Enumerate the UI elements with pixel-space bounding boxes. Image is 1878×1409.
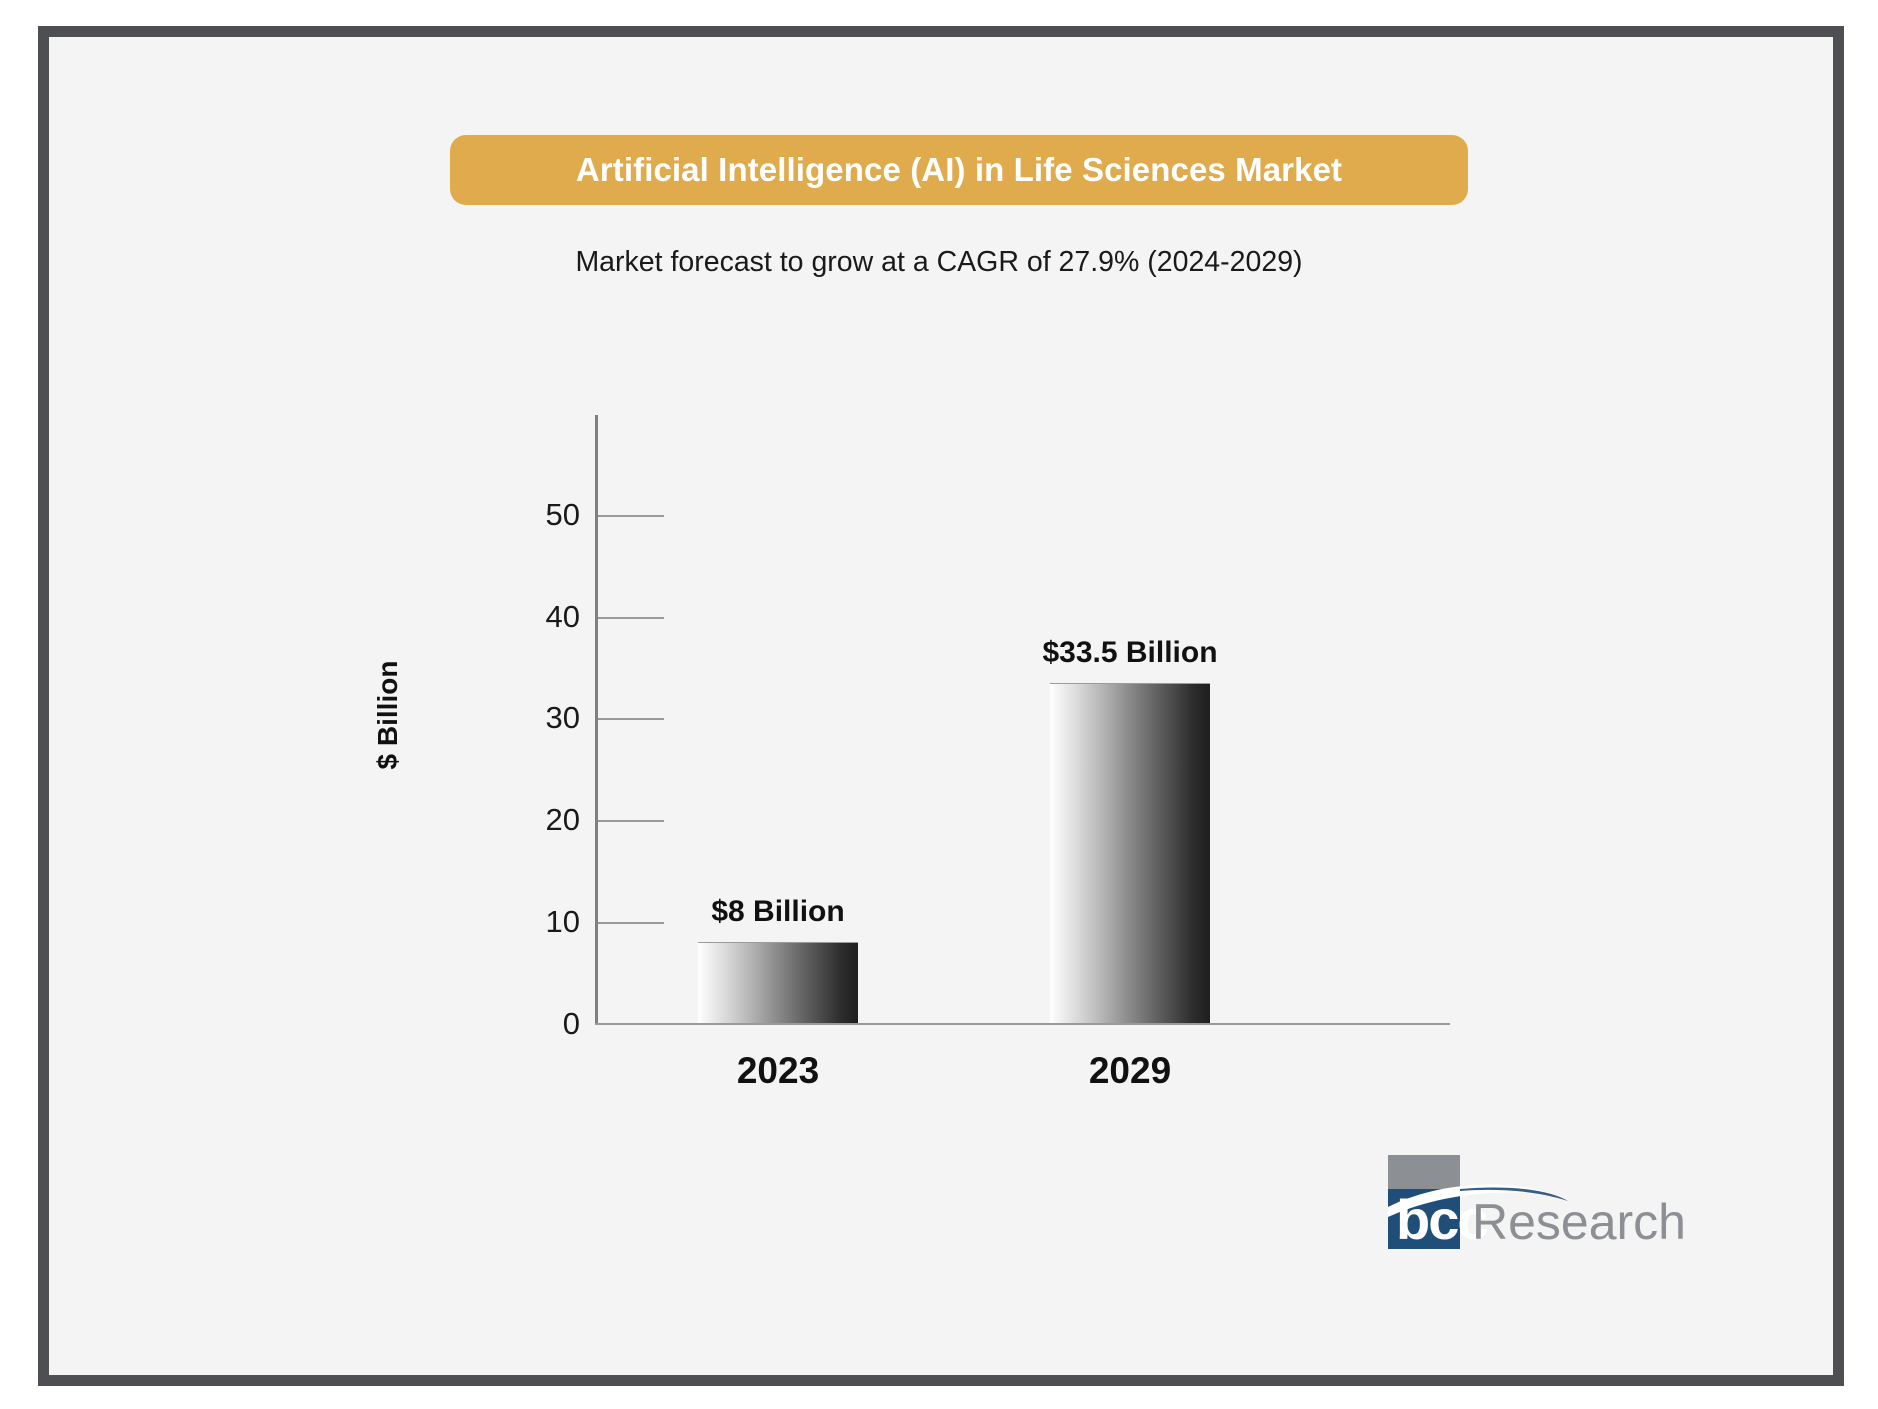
logo-research-text: Research: [1472, 1194, 1684, 1250]
y-tick-label-50: 50: [460, 497, 580, 533]
bar-label-2023: $8 Billion: [711, 895, 844, 929]
slide-root: Artificial Intelligence (AI) in Life Sci…: [0, 0, 1878, 1409]
bcc-research-logo: bcc Research: [1388, 1155, 1684, 1275]
y-tick-label-30: 30: [460, 700, 580, 736]
y-axis-spine: [595, 415, 598, 1025]
category-label-2029: 2029: [1089, 1050, 1171, 1092]
subtitle: Market forecast to grow at a CAGR of 27.…: [0, 246, 1878, 279]
title-banner: Artificial Intelligence (AI) in Life Sci…: [450, 135, 1468, 205]
logo-gray-block: [1388, 1155, 1460, 1189]
y-tick-line-50: [598, 515, 664, 517]
page-title: Artificial Intelligence (AI) in Life Sci…: [576, 151, 1342, 189]
bar-label-2029: $33.5 Billion: [1042, 636, 1217, 670]
chart-plot-area: $ Billion 50 40 30 20 10 0 $8 Billion 20…: [440, 405, 1450, 1045]
y-tick-line-20: [598, 820, 664, 822]
y-tick-label-10: 10: [460, 904, 580, 940]
y-axis-title: $ Billion: [372, 661, 404, 770]
bar-2029[interactable]: [1050, 683, 1210, 1023]
y-tick-label-40: 40: [460, 599, 580, 635]
y-tick-line-10: [598, 922, 664, 924]
category-label-2023: 2023: [737, 1050, 819, 1092]
y-tick-label-20: 20: [460, 802, 580, 838]
y-tick-label-0: 0: [460, 1006, 580, 1042]
x-axis-line: [595, 1023, 1450, 1025]
y-tick-line-30: [598, 718, 664, 720]
bar-2023[interactable]: [698, 942, 858, 1023]
y-tick-line-40: [598, 617, 664, 619]
